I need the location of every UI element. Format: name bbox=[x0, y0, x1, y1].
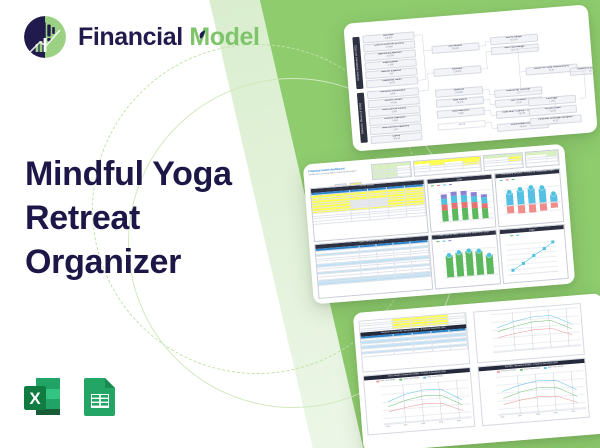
panel-summary-table: Revenue / Gross profit / Net profit (£'0… bbox=[358, 312, 470, 372]
brand-logo[interactable]: Financial Model bbox=[22, 14, 260, 60]
brand-word-financial: Financial bbox=[78, 23, 183, 51]
panel-line-chart-1 bbox=[473, 303, 585, 363]
panel-top5-revenue-streams: Top 5 Revenue Streams (£'000) - 5 Years … bbox=[426, 174, 496, 233]
dashboard-kpi-panel-1 bbox=[371, 161, 412, 180]
line-charts-card[interactable]: Revenue / Gross profit / Net profit (£'0… bbox=[353, 293, 600, 448]
dashboard-kpi-panel-3 bbox=[483, 152, 524, 171]
dashboard-canvas: Financial model dashboard Dashboard / Co… bbox=[303, 144, 575, 305]
leaf-icon bbox=[198, 30, 207, 39]
poster-canvas: Financial Model Mindful Yoga Retreat Org… bbox=[0, 0, 600, 448]
legend-cash-flow bbox=[436, 240, 451, 243]
flowchart-canvas: Income Statement (4 USD) Balance Sheet (… bbox=[343, 4, 597, 151]
legend-payback bbox=[510, 234, 519, 236]
panel-profitability: Profitability (£'000) - 5 Years to Decem… bbox=[494, 168, 564, 227]
page-title: Mindful Yoga Retreat Organizer bbox=[25, 152, 285, 285]
chart-profitability bbox=[502, 181, 562, 219]
line-charts-canvas: Revenue / Gross profit / Net profit (£'0… bbox=[353, 293, 600, 448]
brand-wordmark: Financial Model bbox=[78, 23, 260, 52]
panel-line-chart-2: Gross Margin, Contribution (£'000) - 5 Y… bbox=[363, 367, 475, 435]
headline-line-3: Organizer bbox=[25, 240, 285, 284]
panel-cost-structure: Cost Structure (£'000) bbox=[314, 235, 433, 299]
dashboard-kpi-panel-2 bbox=[413, 155, 482, 176]
excel-icon[interactable]: X bbox=[20, 374, 64, 418]
flowchart-connectors bbox=[343, 4, 597, 151]
panel-cash-flow: Cash flow (£'000) - 5 Years to December … bbox=[431, 229, 501, 289]
chart-top5-bars bbox=[437, 187, 494, 225]
chart-cash-flow bbox=[442, 244, 499, 282]
dupont-flowchart-card[interactable]: Income Statement (4 USD) Balance Sheet (… bbox=[343, 4, 597, 151]
chart-investors-payback bbox=[506, 239, 559, 277]
dashboard-kpi-panel-4 bbox=[524, 149, 559, 168]
panel-investors-payback: Investors Payback Chart (£'000) - 5 Year… bbox=[499, 224, 569, 284]
google-sheets-icon[interactable] bbox=[78, 374, 122, 418]
file-format-badges: X bbox=[20, 374, 122, 418]
left-content-column: Financial Model Mindful Yoga Retreat Org… bbox=[0, 0, 300, 448]
legend-top5 bbox=[431, 183, 452, 186]
dashboard-card[interactable]: Financial model dashboard Dashboard / Co… bbox=[303, 144, 575, 305]
svg-text:X: X bbox=[29, 389, 41, 408]
headline-line-1: Mindful Yoga bbox=[25, 152, 285, 196]
financial-model-circle-logo-icon bbox=[22, 14, 68, 60]
headline-line-2: Retreat bbox=[25, 196, 285, 240]
legend-profitability bbox=[500, 178, 515, 181]
panel-cash-inputs: Cash Inputs bbox=[310, 179, 429, 242]
panel-line-chart-3: EBITDA, Transaction (£'000) - 5 Years to… bbox=[477, 358, 589, 426]
